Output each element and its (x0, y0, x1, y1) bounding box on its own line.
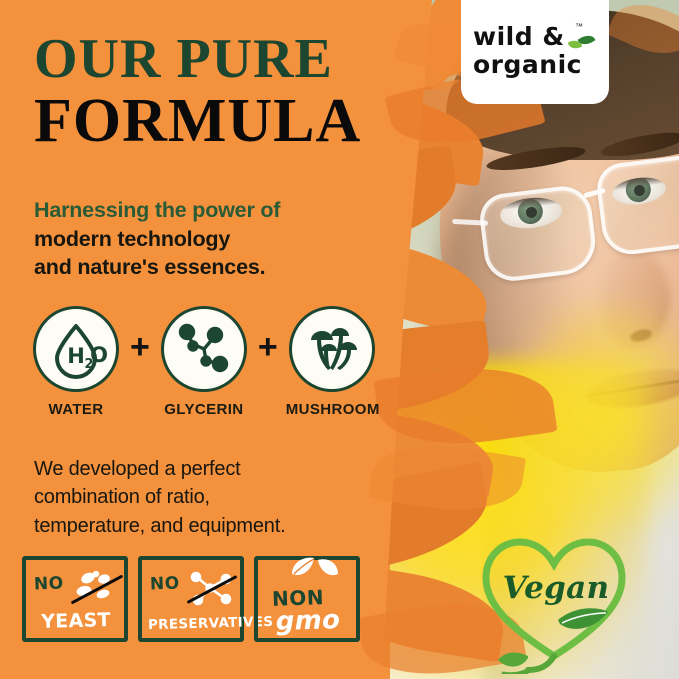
ingredient-list: H 2 O WATER + (30, 306, 378, 418)
badge-top-label: NO (150, 573, 180, 594)
svg-text:O: O (90, 343, 107, 367)
mushroom-cluster-icon (289, 306, 375, 392)
glycerin-molecule-icon (161, 306, 247, 392)
svg-text:H: H (67, 344, 85, 368)
ingredient-label: WATER (30, 401, 122, 418)
body-line-2: combination of ratio, (34, 483, 285, 511)
ingredient-label: GLYCERIN (158, 401, 250, 418)
subheading-green-line: Harnessing the power of (34, 196, 280, 225)
subheading-dark-line-1: modern technology (34, 225, 280, 254)
subheading: Harnessing the power of modern technolog… (34, 196, 280, 282)
body-paragraph: We developed a perfect combination of ra… (34, 455, 285, 540)
vegan-badge: Vegan (470, 524, 638, 674)
ingredient-label: MUSHROOM (286, 401, 378, 418)
subheading-dark-line-2: and nature's essences. (34, 253, 280, 282)
certification-badges: NO YEAST NO (22, 556, 360, 642)
vegan-label: Vegan (496, 570, 616, 606)
product-infographic: wild & organic ™ OUR PURE FORMULA Harnes… (0, 0, 679, 679)
ingredient-mushroom: MUSHROOM (286, 306, 378, 418)
badge-bottom-label: YEAST (32, 609, 121, 633)
badge-no-preservatives: NO PRESERVATIVES (138, 556, 244, 642)
leaves-icon (284, 554, 346, 582)
body-line-1: We developed a perfect (34, 455, 285, 483)
trademark-symbol: ™ (575, 22, 583, 31)
page-title: OUR PURE FORMULA (34, 32, 361, 152)
headline-line-2: FORMULA (34, 91, 361, 152)
badge-non-gmo: NON gmo (254, 556, 360, 642)
ingredient-water: H 2 O WATER (30, 306, 122, 418)
brand-logo[interactable]: wild & organic ™ (461, 0, 609, 104)
body-line-3: temperature, and equipment. (34, 512, 285, 540)
badge-bottom-label: gmo (264, 605, 353, 637)
ingredient-glycerin: GLYCERIN (158, 306, 250, 418)
logo-line-2: organic (473, 52, 601, 77)
plus-separator-2: + (258, 330, 278, 364)
badge-bottom-label: PRESERVATIVES (148, 615, 236, 633)
headline-line-1: OUR PURE (34, 32, 361, 87)
badge-top-label: NO (34, 573, 64, 594)
badge-no-yeast: NO YEAST (22, 556, 128, 642)
plus-separator-1: + (130, 330, 150, 364)
water-drop-h2o-icon: H 2 O (33, 306, 119, 392)
